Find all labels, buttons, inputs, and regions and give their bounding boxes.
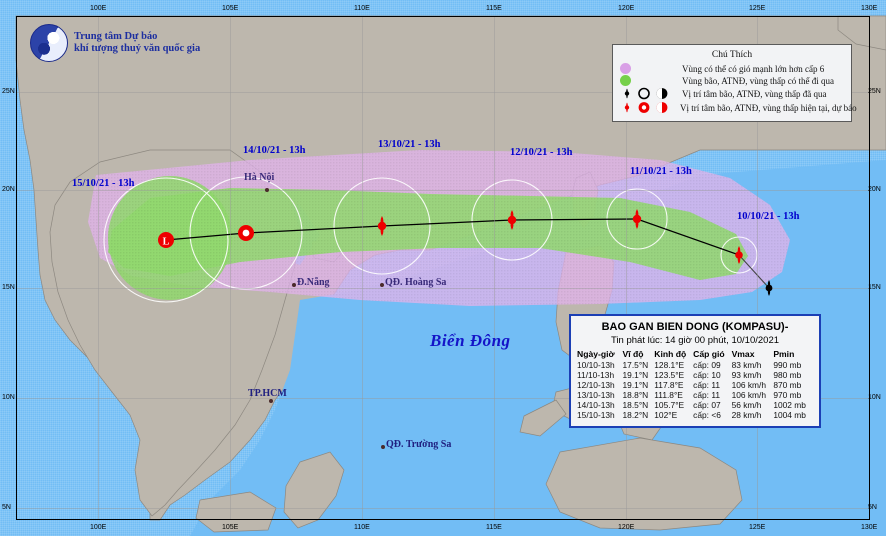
table-column-header: Cấp gió <box>693 349 731 360</box>
typhoon-swirl-icon <box>507 210 518 230</box>
table-cell: 15/10-13h <box>577 410 623 420</box>
place-label-danang: Đ.Nẵng <box>297 277 330 288</box>
table-column-header: Pmin <box>773 349 813 360</box>
table-cell: cấp: 10 <box>693 370 731 380</box>
lon-tick-label: 115E <box>486 524 502 531</box>
lon-tick-label: 115E <box>486 5 502 12</box>
table-cell: 93 km/h <box>732 370 774 380</box>
bulletin-time: Tin phát lúc: 14 giờ 00 phút, 10/10/2021 <box>577 335 813 346</box>
lon-tick-label: 120E <box>618 5 634 12</box>
table-cell: 18.2°N <box>623 410 655 420</box>
table-row: 15/10-13h18.2°N102°Ecấp: <628 km/h1004 m… <box>577 410 813 420</box>
track-date-label: 13/10/21 - 13h <box>378 139 440 150</box>
track-date-label: 10/10/21 - 13h <box>737 211 799 222</box>
legend-label: Vùng có thể có gió mạnh lớn hơn cấp 6 <box>682 64 824 74</box>
lon-tick-label: 100E <box>90 5 106 12</box>
table-cell: 1004 mb <box>773 410 813 420</box>
table-cell: 19.1°N <box>623 370 655 380</box>
table-cell: cấp: <6 <box>693 410 731 420</box>
logo-line-2: khí tượng thuỷ văn quốc gia <box>74 43 200 55</box>
green-circle-icon <box>620 75 676 86</box>
table-cell: 1002 mb <box>773 400 813 410</box>
legend-item-track-zone: Vùng bão, ATNĐ, vùng thấp có thể đi qua <box>620 75 844 86</box>
table-cell: 13/10-13h <box>577 390 623 400</box>
table-cell: 117.8°E <box>654 380 693 390</box>
table-header-row: Ngày-giờVĩ độKinh độCấp gióVmaxPmin <box>577 349 813 360</box>
black-storm-icons <box>620 87 676 100</box>
table-cell: 970 mb <box>773 390 813 400</box>
legend-label: Vùng bão, ATNĐ, vùng thấp có thể đi qua <box>682 76 834 86</box>
typhoon-swirl-icon <box>734 246 744 264</box>
table-cell: 105.7°E <box>654 400 693 410</box>
city-dot <box>380 283 384 287</box>
table-cell: 990 mb <box>773 360 813 370</box>
sea-label-bien-dong: Biển Đông <box>430 331 511 351</box>
city-dot <box>269 399 273 403</box>
lat-tick-label: 20N <box>2 186 15 193</box>
nchmf-logo-icon <box>30 24 68 62</box>
city-dot <box>292 283 296 287</box>
place-label-hanoi: Hà Nội <box>244 172 274 183</box>
table-row: 13/10-13h18.8°N111.8°Ecấp: 11106 km/h970… <box>577 390 813 400</box>
table-cell: 14/10-13h <box>577 400 623 410</box>
logo-line-1: Trung tâm Dự báo <box>74 31 200 43</box>
forecast-table: Ngày-giờVĩ độKinh độCấp gióVmaxPmin 10/1… <box>577 349 813 420</box>
lon-tick-label: 110E <box>354 5 370 12</box>
lon-tick-label: 105E <box>222 524 238 531</box>
table-column-header: Vĩ độ <box>623 349 655 360</box>
lat-tick-label: 10N <box>2 394 15 401</box>
lat-tick-label: 15N <box>868 284 881 291</box>
svg-text:L: L <box>163 237 170 248</box>
place-label-truongsa: QĐ. Trường Sa <box>386 439 451 450</box>
storm-info-panel: BAO GAN BIEN DONG (KOMPASU)- Tin phát lú… <box>569 314 821 428</box>
table-row: 12/10-13h19.1°N117.8°Ecấp: 11106 km/h870… <box>577 380 813 390</box>
city-dot <box>265 188 269 192</box>
track-date-label: 11/10/21 - 13h <box>630 166 692 177</box>
table-row: 10/10-13h17.5°N128.1°Ecấp: 0983 km/h990 … <box>577 360 813 370</box>
lon-tick-label: 125E <box>749 5 765 12</box>
table-cell: cấp: 07 <box>693 400 731 410</box>
table-cell: 11/10-13h <box>577 370 623 380</box>
table-cell: 18.8°N <box>623 390 655 400</box>
table-row: 14/10-13h18.5°N105.7°Ecấp: 0756 km/h1002… <box>577 400 813 410</box>
table-cell: 19.1°N <box>623 380 655 390</box>
typhoon-forecast-map: L <box>0 0 886 536</box>
table-column-header: Vmax <box>732 349 774 360</box>
table-cell: 12/10-13h <box>577 380 623 390</box>
past-position-icon <box>765 280 774 296</box>
lon-tick-label: 130E <box>861 5 877 12</box>
table-cell: 111.8°E <box>654 390 693 400</box>
track-date-label: 12/10/21 - 13h <box>510 147 572 158</box>
city-dot <box>381 445 385 449</box>
lon-tick-label: 105E <box>222 5 238 12</box>
agency-logo: Trung tâm Dự báo khí tượng thuỷ văn quốc… <box>30 24 200 62</box>
table-cell: 106 km/h <box>732 390 774 400</box>
table-cell: 870 mb <box>773 380 813 390</box>
lon-tick-label: 130E <box>861 524 877 531</box>
table-cell: 83 km/h <box>732 360 774 370</box>
table-cell: 128.1°E <box>654 360 693 370</box>
map-legend: Chú Thích Vùng có thể có gió mạnh lớn hơ… <box>612 44 852 122</box>
lon-tick-label: 125E <box>749 524 765 531</box>
legend-label: Vị trí tâm bão, ATNĐ, vùng thấp hiện tại… <box>680 103 857 113</box>
table-cell: cấp: 09 <box>693 360 731 370</box>
typhoon-swirl-icon <box>377 216 388 236</box>
table-cell: cấp: 11 <box>693 380 731 390</box>
table-column-header: Ngày-giờ <box>577 349 623 360</box>
table-cell: 106 km/h <box>732 380 774 390</box>
red-storm-icons <box>620 101 674 114</box>
place-label-tphcm: TP.HCM <box>248 388 287 399</box>
lon-tick-label: 110E <box>354 524 370 531</box>
lat-tick-label: 5N <box>2 504 11 511</box>
typhoon-swirl-icon <box>632 209 643 229</box>
tropical-depression-icon <box>238 225 254 241</box>
table-cell: 102°E <box>654 410 693 420</box>
table-cell: 28 km/h <box>732 410 774 420</box>
lat-tick-label: 5N <box>868 504 877 511</box>
table-cell: 10/10-13h <box>577 360 623 370</box>
storm-title: BAO GAN BIEN DONG (KOMPASU)- <box>577 321 813 333</box>
track-date-label: 14/10/21 - 13h <box>243 145 305 156</box>
table-cell: 56 km/h <box>732 400 774 410</box>
low-pressure-icon: L <box>158 232 174 248</box>
table-row: 11/10-13h19.1°N123.5°Ecấp: 1093 km/h980 … <box>577 370 813 380</box>
table-cell: cấp: 11 <box>693 390 731 400</box>
lat-tick-label: 25N <box>868 88 881 95</box>
lat-tick-label: 20N <box>868 186 881 193</box>
lat-tick-label: 25N <box>2 88 15 95</box>
table-cell: 17.5°N <box>623 360 655 370</box>
legend-item-wind-zone: Vùng có thể có gió mạnh lớn hơn cấp 6 <box>620 63 844 74</box>
legend-title: Chú Thích <box>620 50 844 60</box>
legend-item-current-position: Vị trí tâm bão, ATNĐ, vùng thấp hiện tại… <box>620 101 844 114</box>
track-date-label: 15/10/21 - 13h <box>72 178 134 189</box>
lat-tick-label: 10N <box>868 394 881 401</box>
lat-tick-label: 15N <box>2 284 15 291</box>
lon-tick-label: 120E <box>618 524 634 531</box>
table-cell: 18.5°N <box>623 400 655 410</box>
place-label-hoangsa: QĐ. Hoàng Sa <box>385 277 446 288</box>
table-cell: 123.5°E <box>654 370 693 380</box>
legend-item-past-position: Vị trí tâm bão, ATNĐ, vùng thấp đã qua <box>620 87 844 100</box>
legend-label: Vị trí tâm bão, ATNĐ, vùng thấp đã qua <box>682 89 826 99</box>
table-cell: 980 mb <box>773 370 813 380</box>
purple-circle-icon <box>620 63 676 74</box>
lon-tick-label: 100E <box>90 524 106 531</box>
table-column-header: Kinh độ <box>654 349 693 360</box>
